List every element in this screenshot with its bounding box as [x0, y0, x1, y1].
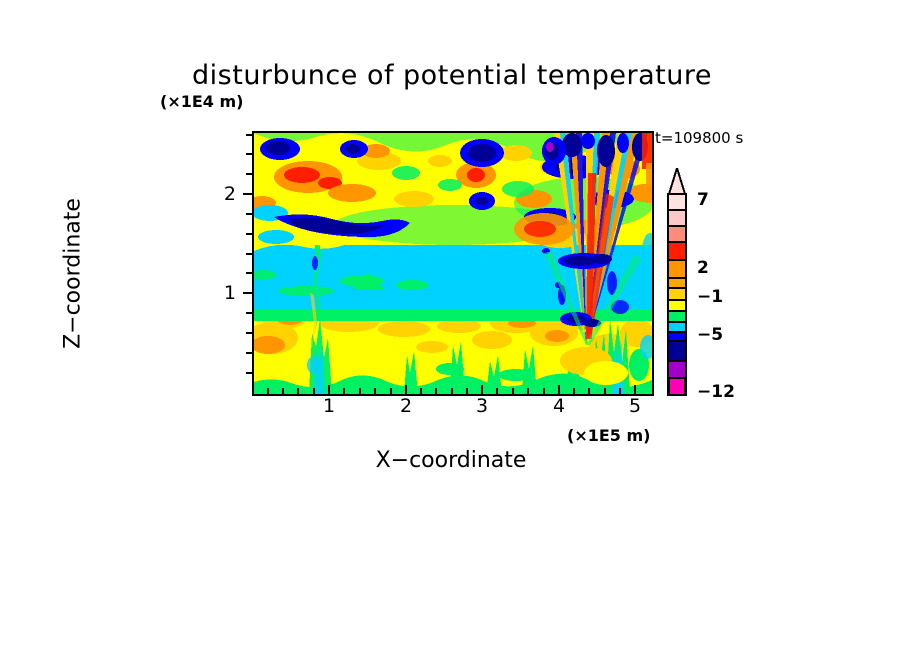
- x-minor-tick: [527, 388, 529, 394]
- contour-plot-area: [252, 131, 654, 396]
- temperature-field: [254, 133, 652, 394]
- x-tick-label-2: 2: [386, 395, 426, 417]
- colorbar-label-2: 2: [697, 258, 709, 278]
- x-minor-tick: [466, 388, 468, 394]
- colorbar-label-m1: −1: [697, 287, 723, 307]
- x-minor-tick: [297, 388, 299, 394]
- y-minor-tick: [246, 253, 254, 255]
- x-tick-label-3: 3: [462, 395, 502, 417]
- y-minor-tick: [246, 372, 254, 374]
- y-minor-tick: [246, 153, 254, 155]
- x-minor-tick: [604, 388, 606, 394]
- x-major-tick-4: [558, 385, 560, 394]
- x-major-tick-5: [634, 385, 636, 394]
- x-axis-title: X−coordinate: [252, 448, 650, 473]
- y-major-tick-2: [243, 193, 254, 195]
- y-tick-label-2: 2: [196, 183, 236, 205]
- x-tick-label-1: 1: [309, 395, 349, 417]
- y-axis-units-label: (×1E4 m): [160, 92, 243, 111]
- y-axis-title: Z−coordinate: [61, 144, 86, 404]
- x-tick-label-4: 4: [539, 395, 579, 417]
- x-minor-tick: [343, 388, 345, 394]
- x-minor-tick: [374, 388, 376, 394]
- x-minor-tick: [359, 388, 361, 394]
- y-minor-tick: [246, 134, 254, 136]
- y-minor-tick: [246, 213, 254, 215]
- x-minor-tick: [390, 388, 392, 394]
- colorbar-label-m5: −5: [697, 325, 723, 345]
- x-minor-tick: [282, 388, 284, 394]
- x-minor-tick: [313, 388, 315, 394]
- x-minor-tick: [573, 388, 575, 394]
- x-major-tick-2: [405, 385, 407, 394]
- x-minor-tick: [512, 388, 514, 394]
- x-minor-tick: [588, 388, 590, 394]
- colorbar-band-bottom: [668, 377, 686, 396]
- colorbar: [667, 168, 687, 396]
- x-minor-tick: [619, 388, 621, 394]
- x-minor-tick: [543, 388, 545, 394]
- y-minor-tick: [246, 233, 254, 235]
- x-major-tick-3: [481, 385, 483, 394]
- y-minor-tick: [246, 352, 254, 354]
- x-minor-tick: [420, 388, 422, 394]
- x-axis-units-label: (×1E5 m): [567, 426, 650, 445]
- x-major-tick-1: [328, 385, 330, 394]
- x-tick-label-5: 5: [615, 395, 655, 417]
- y-major-tick-1: [243, 292, 254, 294]
- chart-title: disturbunce of potential temperature: [0, 60, 904, 91]
- x-minor-tick: [435, 388, 437, 394]
- y-minor-tick: [246, 272, 254, 274]
- y-minor-tick: [246, 332, 254, 334]
- colorbar-label-m12: −12: [697, 382, 735, 402]
- timestamp-label: t=109800 s: [655, 129, 743, 147]
- y-tick-label-1: 1: [196, 282, 236, 304]
- x-minor-tick: [496, 388, 498, 394]
- y-minor-tick: [246, 312, 254, 314]
- colorbar-label-7: 7: [697, 190, 709, 210]
- y-minor-tick: [246, 173, 254, 175]
- x-minor-tick: [267, 388, 269, 394]
- x-minor-tick: [451, 388, 453, 394]
